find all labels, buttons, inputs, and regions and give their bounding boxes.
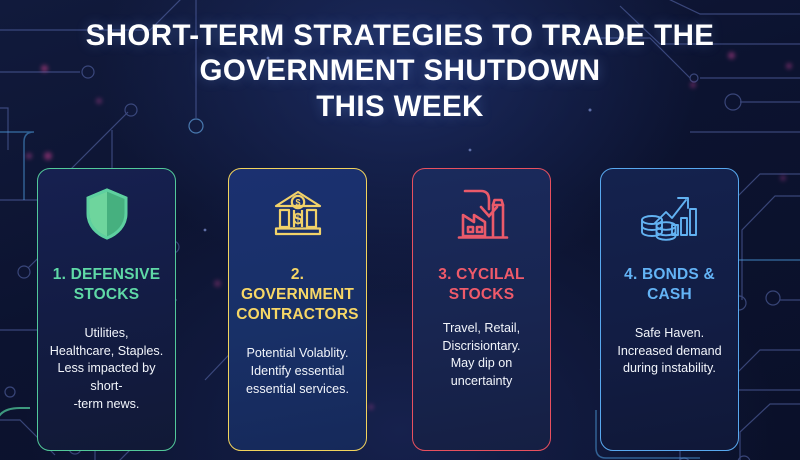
glow-speck [44,152,52,160]
svg-text:$: $ [293,211,302,228]
coins-growth-chart-icon [639,183,701,245]
card-body: Safe Haven. Increased demand during inst… [610,325,728,379]
card-title: 3. CYCILAL STOCKS [413,265,550,305]
card-body-line: Increased demand [617,343,721,361]
card-body-line: Safe Haven. [617,325,721,343]
card-body-line: Identify essential [246,363,349,381]
factory-down-arrow-icon [453,183,511,245]
title-line-3: THIS WEEK [0,89,800,124]
glow-speck [26,153,32,159]
card-body: Travel, Retail, Discrisiontary. May dip … [435,320,527,392]
card-body-line: Discrisiontary. [442,338,520,356]
page-title: SHORT-TERM STRATEGIES TO TRADE THE GOVER… [0,18,800,124]
strategy-card-cyclical-stocks[interactable]: 3. CYCILAL STOCKS Travel, Retail, Discri… [412,168,551,451]
card-body-line: -term news. [45,396,168,414]
card-title: 1. DEFENSIVE STOCKS [38,265,175,305]
card-body-line: Healthcare, Staples. [45,343,168,361]
strategy-card-defensive-stocks[interactable]: 1. DEFENSIVE STOCKS Utilities, Healthcar… [37,168,176,451]
shield-icon [83,183,131,245]
card-body-line: uncertainty [442,373,520,391]
card-body-line: Potential Volablity. [246,345,349,363]
infographic-root: SHORT-TERM STRATEGIES TO TRADE THE GOVER… [0,0,800,460]
card-body-line: Less impacted by short- [45,360,168,396]
title-line-2: GOVERNMENT SHUTDOWN [0,53,800,88]
card-body-line: essential services. [246,381,349,399]
card-body-line: Utilities, [45,325,168,343]
card-body: Utilities, Healthcare, Staples. Less imp… [38,325,175,414]
strategy-card-government-contractors[interactable]: $ $ 2. GOVERNMENT CONTRACTORS Potential … [228,168,367,451]
card-body-line: during instability. [617,360,721,378]
card-body-line: May dip on [442,355,520,373]
svg-text:$: $ [295,198,300,208]
title-line-1: SHORT-TERM STRATEGIES TO TRADE THE [0,18,800,53]
strategy-card-list: 1. DEFENSIVE STOCKS Utilities, Healthcar… [0,168,800,452]
bank-dollar-icon: $ $ [271,183,325,245]
strategy-card-bonds-and-cash[interactable]: 4. BONDS & CASH Safe Haven. Increased de… [600,168,739,451]
card-body-line: Travel, Retail, [442,320,520,338]
card-title: 2. GOVERNMENT CONTRACTORS [229,265,366,324]
card-title: 4. BONDS & CASH [601,265,738,305]
card-body: Potential Volablity. Identify essential … [239,345,356,399]
